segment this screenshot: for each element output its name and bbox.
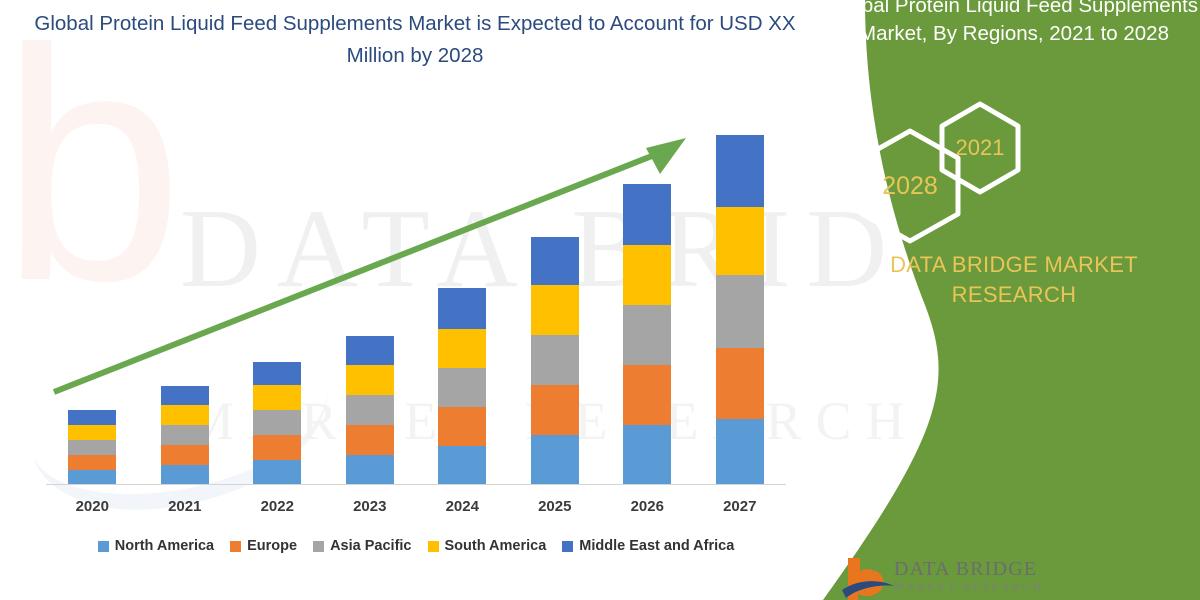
chart: 20202021202220232024202520262027 North A… bbox=[0, 0, 820, 600]
legend-label: North America bbox=[115, 538, 214, 554]
bar-segment bbox=[161, 425, 209, 445]
bar-segment bbox=[161, 445, 209, 465]
bar-segment bbox=[68, 470, 116, 485]
legend-item[interactable]: Asia Pacific bbox=[313, 538, 411, 554]
footer-logo-name: DATA BRIDGE bbox=[894, 558, 1037, 581]
hexagon-badge-2028-label: 2028 bbox=[882, 172, 938, 201]
legend-swatch-icon bbox=[230, 541, 241, 552]
bar-segment bbox=[438, 407, 486, 446]
bar-segment bbox=[253, 410, 301, 435]
chart-x-axis bbox=[46, 484, 786, 485]
regions-panel-title: Global Protein Liquid Feed Supplements M… bbox=[828, 0, 1200, 48]
brand-name: DATA BRIDGE MARKET RESEARCH bbox=[828, 250, 1200, 310]
bar-segment bbox=[438, 446, 486, 485]
legend-swatch-icon bbox=[562, 541, 573, 552]
chart-legend: North AmericaEuropeAsia PacificSouth Ame… bbox=[46, 538, 786, 554]
hexagon-badge-2021-label: 2021 bbox=[956, 135, 1005, 161]
year-badges: 2028 2021 bbox=[828, 100, 1200, 240]
x-tick-2023: 2023 bbox=[325, 498, 415, 515]
logo-b-icon bbox=[842, 556, 896, 600]
bar-segment bbox=[68, 440, 116, 455]
chart-x-tick-labels: 20202021202220232024202520262027 bbox=[46, 498, 786, 522]
legend-label: Middle East and Africa bbox=[579, 538, 734, 554]
infographic-canvas: b DATA BRIDGE MARKET RESEARCH Global Pro… bbox=[0, 0, 1200, 600]
x-tick-2027: 2027 bbox=[695, 498, 785, 515]
legend-swatch-icon bbox=[428, 541, 439, 552]
bar-segment bbox=[716, 419, 764, 485]
bar-segment bbox=[346, 425, 394, 455]
bar-segment bbox=[161, 465, 209, 485]
legend-label: Asia Pacific bbox=[330, 538, 411, 554]
legend-item[interactable]: Europe bbox=[230, 538, 297, 554]
bar-2020 bbox=[68, 410, 116, 485]
footer-logo: DATA BRIDGE MARKET RESEARCH bbox=[842, 556, 1092, 600]
x-tick-2020: 2020 bbox=[47, 498, 137, 515]
x-tick-2024: 2024 bbox=[417, 498, 507, 515]
x-tick-2026: 2026 bbox=[602, 498, 692, 515]
footer-logo-tagline: MARKET RESEARCH bbox=[894, 582, 1044, 593]
legend-swatch-icon bbox=[98, 541, 109, 552]
x-tick-2022: 2022 bbox=[232, 498, 322, 515]
x-tick-2021: 2021 bbox=[140, 498, 230, 515]
legend-swatch-icon bbox=[313, 541, 324, 552]
legend-item[interactable]: Middle East and Africa bbox=[562, 538, 734, 554]
bar-segment bbox=[253, 435, 301, 460]
bar-segment bbox=[346, 455, 394, 485]
hexagon-badge-2021: 2021 bbox=[938, 100, 1022, 196]
bar-segment bbox=[531, 435, 579, 485]
bar-segment bbox=[623, 425, 671, 485]
bar-segment bbox=[68, 425, 116, 440]
trend-arrow-icon bbox=[46, 110, 786, 410]
x-tick-2025: 2025 bbox=[510, 498, 600, 515]
bar-segment bbox=[253, 460, 301, 485]
legend-label: South America bbox=[445, 538, 547, 554]
legend-item[interactable]: South America bbox=[428, 538, 547, 554]
legend-item[interactable]: North America bbox=[98, 538, 214, 554]
legend-label: Europe bbox=[247, 538, 297, 554]
bar-segment bbox=[68, 455, 116, 470]
bar-segment bbox=[68, 410, 116, 425]
